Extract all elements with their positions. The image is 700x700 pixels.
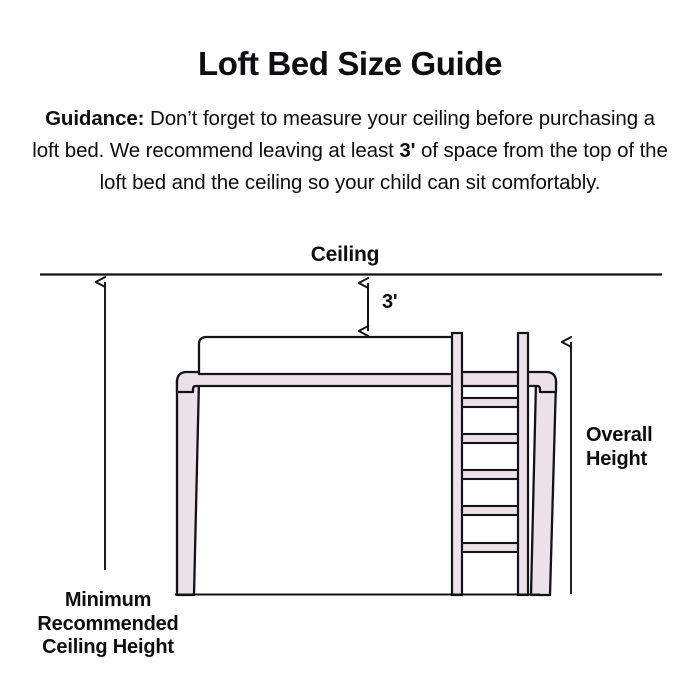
ladder-rail-left	[452, 333, 462, 595]
loft-bed-size-guide-page: Loft Bed Size Guide Guidance: Don’t forg…	[0, 0, 700, 700]
ladder-rung	[456, 470, 523, 479]
right-leg	[531, 382, 556, 595]
minimum-ceiling-height-line3: Ceiling Height	[8, 636, 208, 660]
ceiling-label: Ceiling	[285, 243, 405, 268]
clearance-label: 3'	[382, 291, 397, 315]
minimum-ceiling-height-line2: Recommended	[8, 613, 208, 637]
ladder-rail-right	[518, 333, 528, 595]
ladder-rung	[456, 543, 523, 552]
ladder-rung	[456, 398, 523, 407]
overall-height-label: Overall Height	[586, 424, 696, 471]
minimum-ceiling-height-line1: Minimum	[8, 589, 208, 613]
left-leg	[177, 380, 199, 595]
mattress	[199, 337, 456, 374]
ladder-rung	[456, 434, 523, 443]
ladder-rungs	[456, 398, 523, 552]
overall-height-label-line2: Height	[586, 448, 696, 472]
overall-height-label-line1: Overall	[586, 424, 696, 448]
minimum-ceiling-height-label: Minimum Recommended Ceiling Height	[8, 589, 208, 660]
ladder-rung	[456, 506, 523, 515]
